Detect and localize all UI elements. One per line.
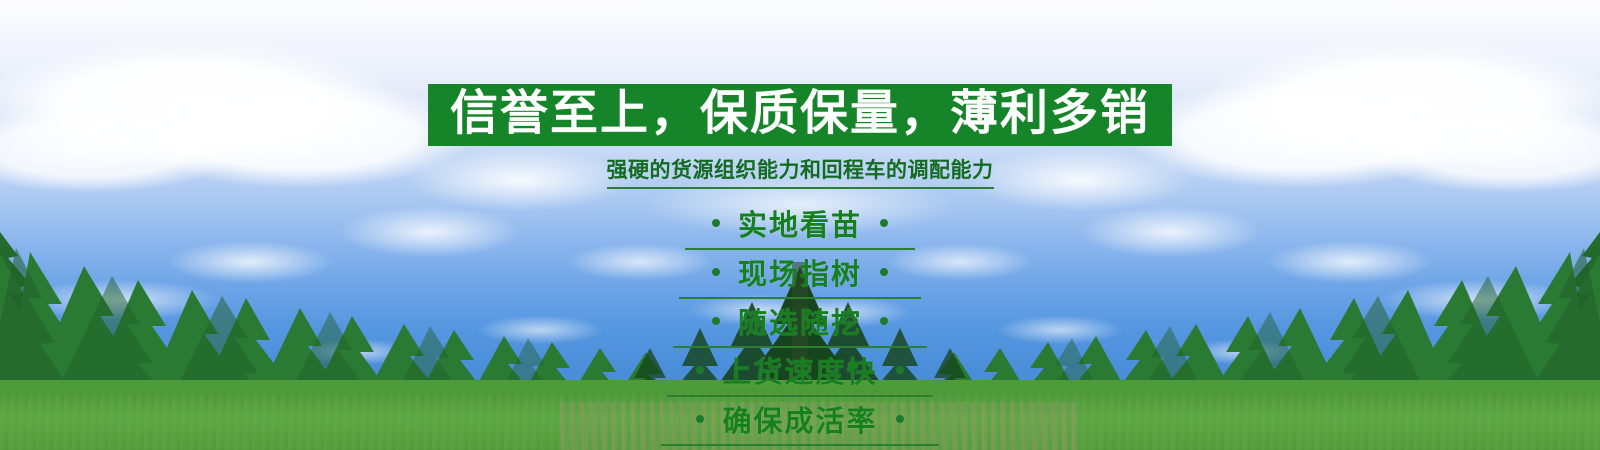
feature-row: 现场指树: [679, 250, 921, 299]
subtitle-text: 强硬的货源组织能力和回程车的调配能力: [607, 154, 994, 189]
headline-text: 信誉至上，保质保量，薄利多销: [450, 89, 1150, 137]
banner-content: 信誉至上，保质保量，薄利多销 强硬的货源组织能力和回程车的调配能力 实地看苗 现…: [0, 0, 1600, 450]
bullet-dot-icon: [880, 219, 888, 227]
feature-row: 确保成活率: [661, 397, 939, 446]
promo-banner: 信誉至上，保质保量，薄利多销 强硬的货源组织能力和回程车的调配能力 实地看苗 现…: [0, 0, 1600, 450]
feature-label: 实地看苗: [738, 202, 862, 244]
bullet-dot-icon: [712, 219, 720, 227]
bullet-dot-icon: [880, 317, 888, 325]
feature-label: 随选随挖: [738, 300, 862, 342]
bullet-dot-icon: [896, 415, 904, 423]
bullet-dot-icon: [880, 268, 888, 276]
headline-bar: 信誉至上，保质保量，薄利多销: [428, 84, 1172, 146]
feature-row: 实地看苗: [685, 201, 915, 250]
bullet-dot-icon: [896, 366, 904, 374]
feature-label: 上货速度快: [722, 349, 877, 391]
feature-label: 确保成活率: [722, 398, 877, 440]
bullet-dot-icon: [712, 317, 720, 325]
feature-list: 实地看苗 现场指树 随选随挖 上货速度快 确保成活率: [661, 201, 939, 446]
bullet-dot-icon: [696, 415, 704, 423]
feature-row: 随选随挖: [673, 299, 927, 348]
bullet-dot-icon: [712, 268, 720, 276]
feature-row: 上货速度快: [667, 348, 933, 397]
bullet-dot-icon: [696, 366, 704, 374]
feature-label: 现场指树: [738, 251, 862, 293]
